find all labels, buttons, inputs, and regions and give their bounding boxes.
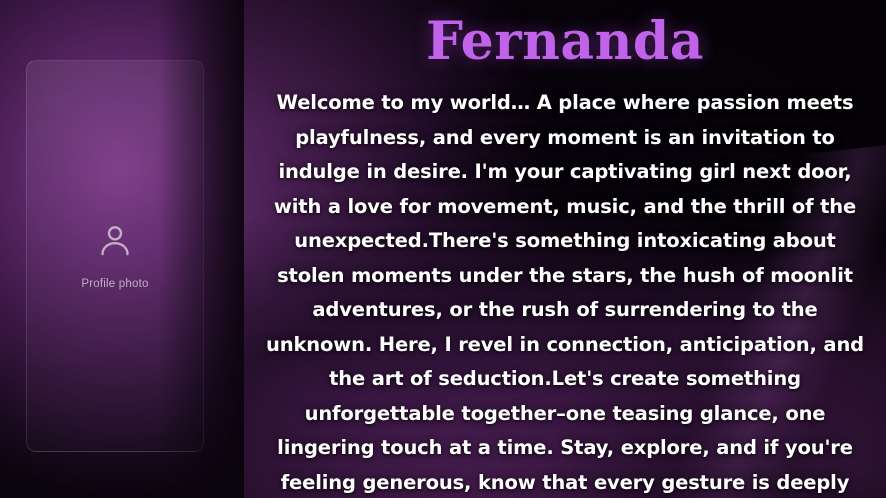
profile-content: Fernanda Welcome to my world… A place wh… <box>244 0 886 498</box>
profile-photo-caption: Profile photo <box>81 276 148 293</box>
profile-bio: Welcome to my world… A place where passi… <box>252 68 878 498</box>
profile-photo-placeholder: Profile photo <box>26 60 204 452</box>
page-title: Fernanda <box>426 0 704 68</box>
profile-photo-panel: Profile photo <box>0 0 244 498</box>
bio-paragraph-2: There's something intoxicating about sto… <box>266 229 871 390</box>
profile-banner: Profile photo Fernanda Welcome to my wor… <box>0 0 886 498</box>
bio-paragraph-1: Welcome to my world… A place where passi… <box>274 91 863 252</box>
person-photo-icon <box>95 220 135 264</box>
